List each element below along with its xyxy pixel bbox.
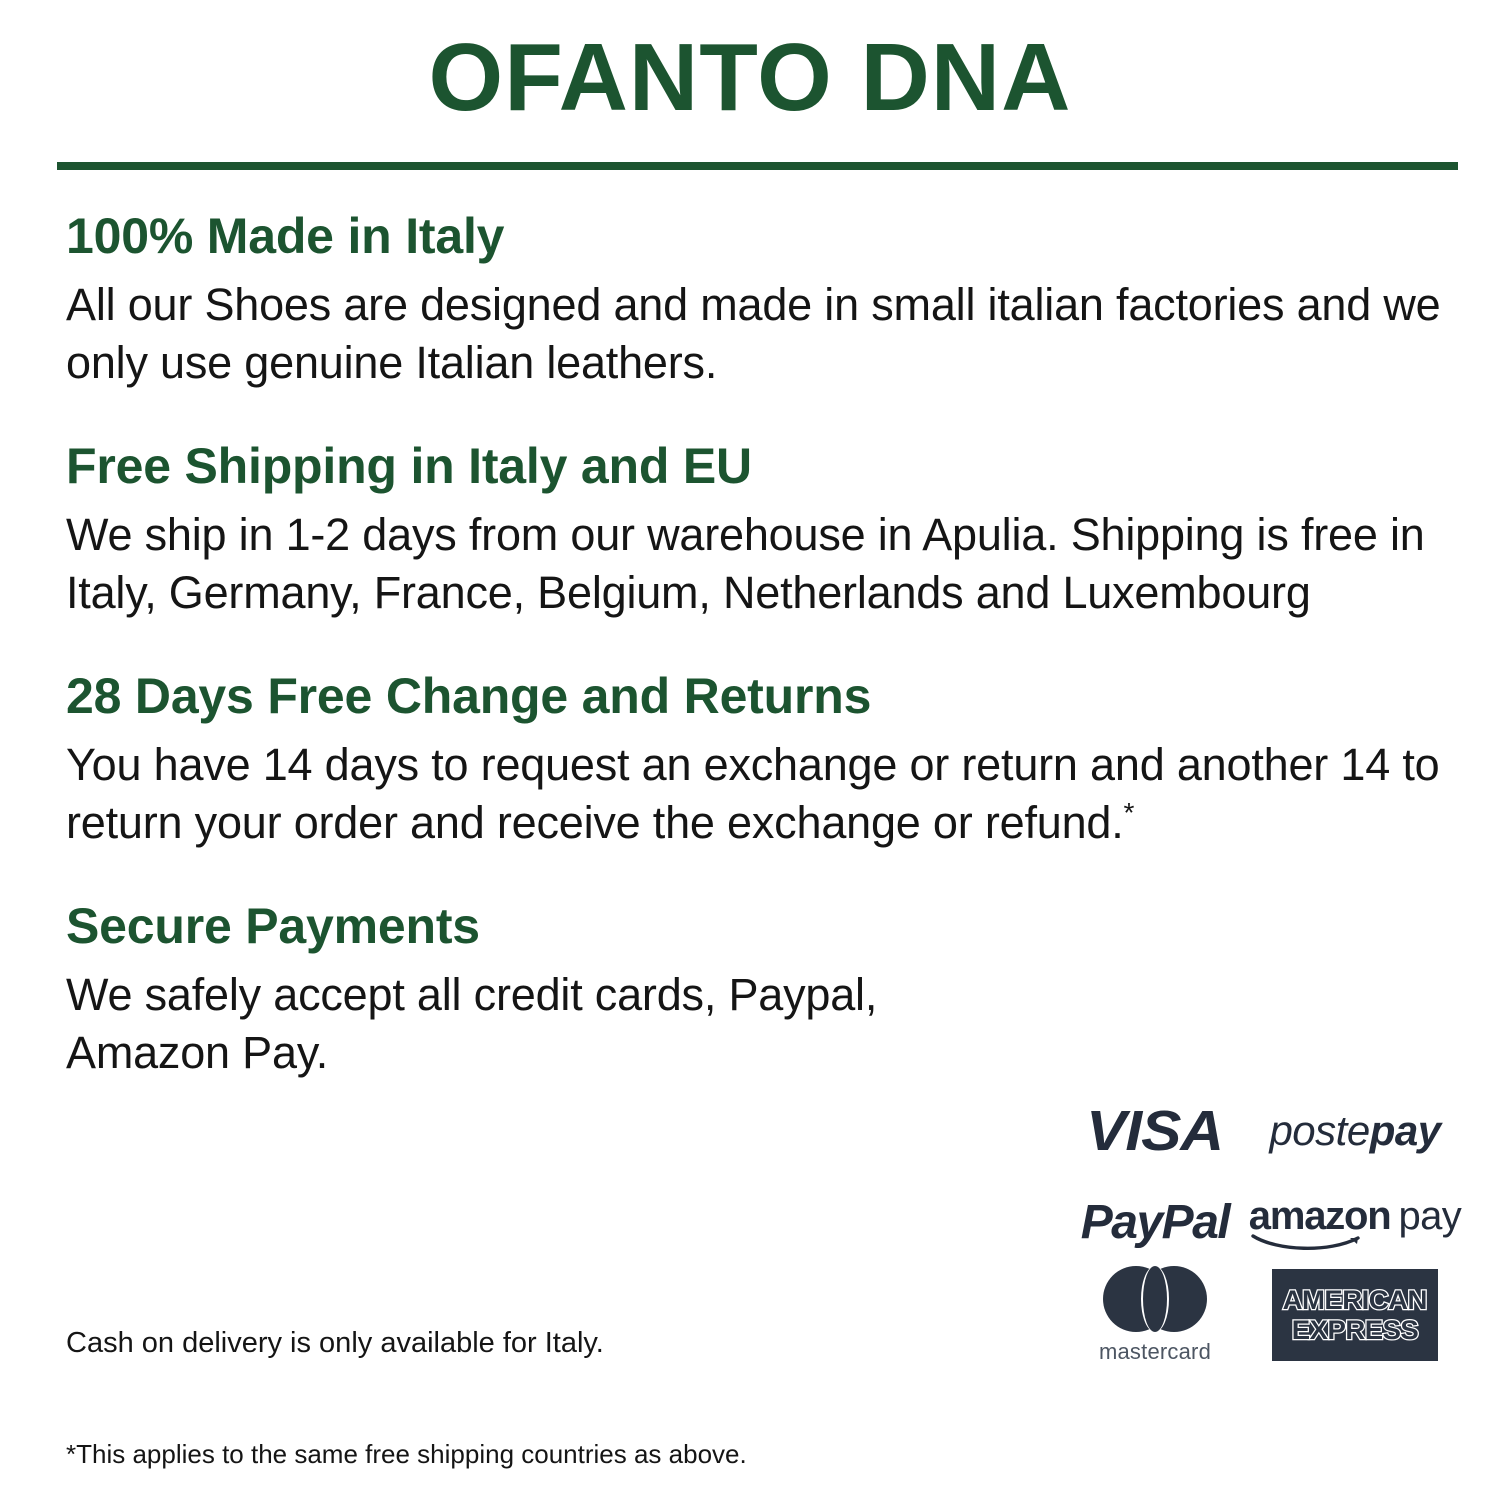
section-heading-returns: 28 Days Free Change and Returns	[66, 666, 1446, 726]
section-heading-secure-payments: Secure Payments	[66, 896, 1446, 956]
note-cash-on-delivery: Cash on delivery is only available for I…	[66, 1324, 604, 1362]
ofanto-dna-info-panel: OFANTO DNA 100% Made in Italy All our Sh…	[0, 0, 1500, 1500]
payment-logo-row-3: mastercard AMERICAN EXPRESS	[1055, 1269, 1455, 1361]
postepay-label-part2: pay	[1370, 1107, 1441, 1154]
amex-label-line1: AMERICAN	[1283, 1287, 1427, 1314]
section-body-secure-payments: We safely accept all credit cards, Paypa…	[66, 966, 966, 1082]
visa-icon: VISA	[1087, 1103, 1224, 1160]
american-express-logo: AMERICAN EXPRESS	[1255, 1269, 1455, 1361]
section-free-shipping: Free Shipping in Italy and EU We ship in…	[66, 436, 1446, 622]
american-express-icon: AMERICAN EXPRESS	[1272, 1269, 1438, 1361]
section-returns: 28 Days Free Change and Returns You have…	[66, 666, 1446, 852]
section-secure-payments: Secure Payments We safely accept all cre…	[66, 896, 1446, 1082]
payment-logo-row-2: PayPal amazonpay	[1055, 1177, 1455, 1269]
header-divider	[57, 162, 1458, 170]
amazon-pay-icon: amazonpay	[1249, 1196, 1461, 1250]
note-footnote: *This applies to the same free shipping …	[66, 1437, 747, 1471]
amex-label-line2: EXPRESS	[1292, 1317, 1419, 1344]
postepay-logo: postepay	[1255, 1110, 1455, 1152]
amazon-pay-logo: amazonpay	[1255, 1196, 1455, 1250]
page-title: OFANTO DNA	[0, 22, 1500, 134]
visa-logo: VISA	[1055, 1103, 1255, 1160]
amazon-smile-arrow-icon	[1251, 1232, 1373, 1252]
sections-container: 100% Made in Italy All our Shoes are des…	[66, 206, 1446, 1126]
mastercard-circles-icon	[1103, 1266, 1207, 1332]
section-body-made-in-italy: All our Shoes are designed and made in s…	[66, 276, 1446, 392]
section-body-returns: You have 14 days to request an exchange …	[66, 736, 1446, 852]
mastercard-logo: mastercard	[1055, 1266, 1255, 1365]
section-body-returns-text: You have 14 days to request an exchange …	[66, 739, 1439, 848]
section-body-free-shipping: We ship in 1-2 days from our warehouse i…	[66, 506, 1446, 622]
postepay-label-part1: poste	[1269, 1107, 1369, 1154]
payment-logo-row-1: VISA postepay	[1055, 1085, 1455, 1177]
returns-footnote-marker: *	[1124, 797, 1135, 828]
paypal-icon: PayPal	[1081, 1199, 1229, 1247]
section-heading-made-in-italy: 100% Made in Italy	[66, 206, 1446, 266]
postepay-icon: postepay	[1269, 1110, 1440, 1152]
mastercard-icon: mastercard	[1099, 1266, 1211, 1365]
mastercard-overlap	[1141, 1266, 1169, 1332]
mastercard-label: mastercard	[1099, 1339, 1211, 1365]
section-heading-free-shipping: Free Shipping in Italy and EU	[66, 436, 1446, 496]
paypal-logo: PayPal	[1055, 1199, 1255, 1247]
payment-logos: VISA postepay PayPal amazonpay	[1055, 1085, 1455, 1361]
section-made-in-italy: 100% Made in Italy All our Shoes are des…	[66, 206, 1446, 392]
amazon-label-part2: pay	[1399, 1194, 1462, 1238]
